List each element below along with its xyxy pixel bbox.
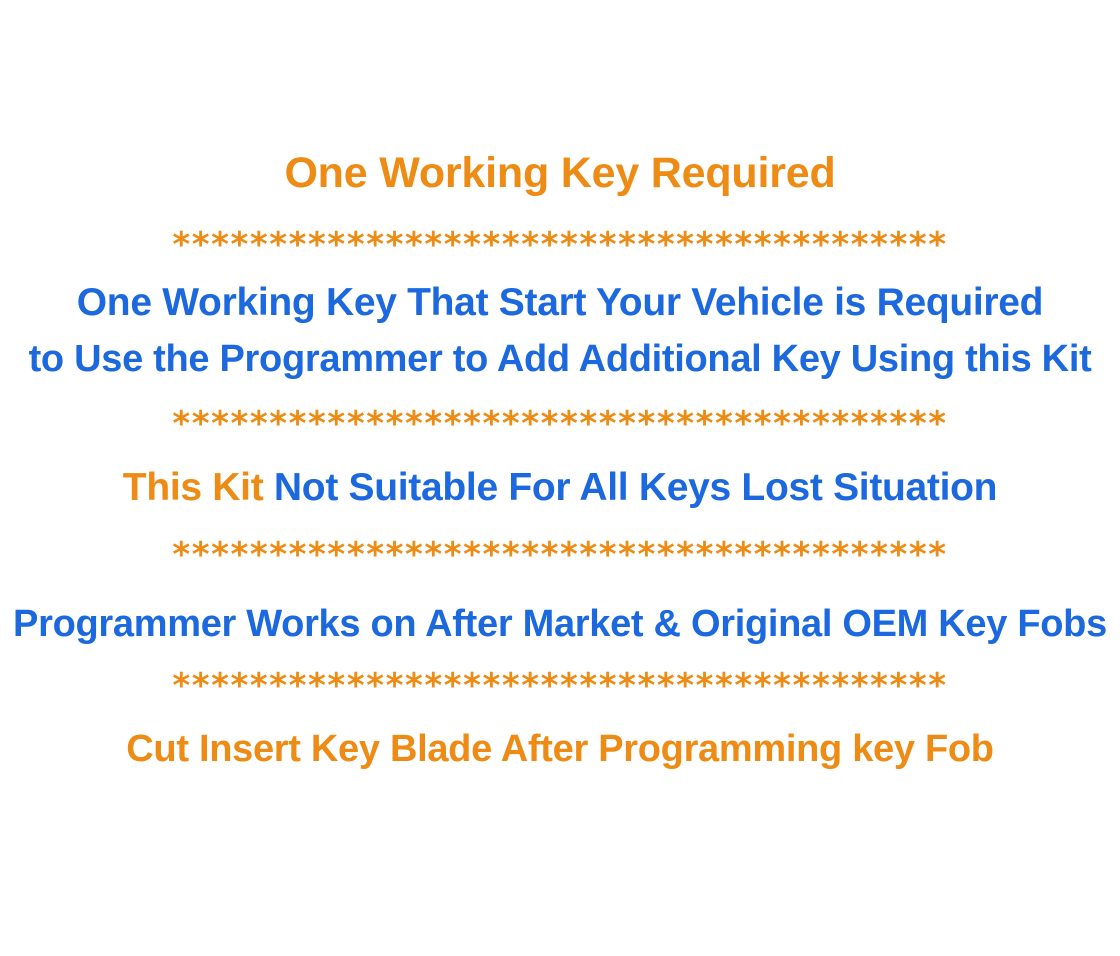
notice-page: One Working Key Required ***************…: [0, 0, 1120, 956]
separator-row-4: ****************************************: [0, 669, 1120, 703]
separator-row-3: ****************************************: [0, 538, 1120, 572]
not-suitable-remainder: Not Suitable For All Keys Lost Situation: [263, 466, 997, 509]
compatibility-line: Programmer Works on After Market & Origi…: [0, 605, 1120, 643]
page-title: One Working Key Required: [0, 152, 1120, 195]
not-suitable-emphasis: This Kit: [123, 466, 264, 509]
separator-row-2: ****************************************: [0, 407, 1120, 441]
cut-blade-line: Cut Insert Key Blade After Programming k…: [0, 730, 1120, 768]
requirement-line-1: One Working Key That Start Your Vehicle …: [0, 283, 1120, 322]
separator-row-1: ****************************************: [0, 228, 1120, 262]
not-suitable-line: This Kit Not Suitable For All Keys Lost …: [0, 468, 1120, 507]
requirement-line-2: to Use the Programmer to Add Additional …: [0, 340, 1120, 378]
